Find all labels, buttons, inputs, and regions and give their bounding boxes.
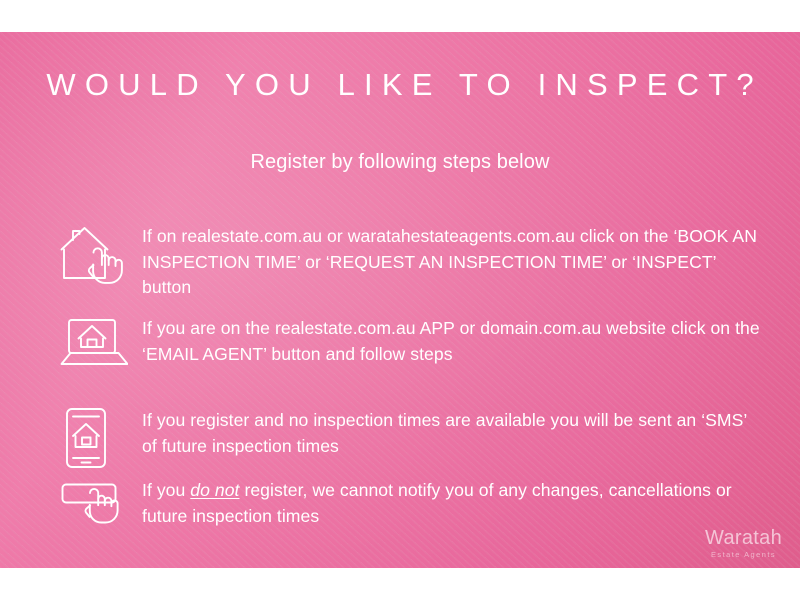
list-item-text: If you do not register, we cannot notify… [142,476,760,529]
logo-tagline: Estate Agents [705,551,782,558]
page-subtitle: Register by following steps below [0,152,800,172]
list-item-text: If you are on the realestate.com.au APP … [142,314,760,367]
poster-canvas: WOULD YOU LIKE TO INSPECT? Register by f… [0,32,800,568]
list-item-text: If on realestate.com.au or waratahestate… [142,222,760,301]
list-item: If you register and no inspection times … [60,406,760,469]
list-item: If you do not register, we cannot notify… [60,476,760,531]
page-title: WOULD YOU LIKE TO INSPECT? [0,69,800,100]
step-text-main: If you register and no inspection times … [142,410,747,456]
smartphone-with-house-icon [60,406,142,469]
laptop-with-house-icon [60,314,142,371]
poster-content: WOULD YOU LIKE TO INSPECT? Register by f… [0,32,800,568]
house-with-pointing-hand-icon [60,222,142,284]
step-text-before: If you [142,480,190,500]
step-text-main: If on realestate.com.au or waratahestate… [142,226,757,297]
list-item: If on realestate.com.au or waratahestate… [60,222,760,301]
button-with-pointing-hand-icon [60,476,142,531]
list-item: If you are on the realestate.com.au APP … [60,314,760,371]
step-text-main: If you are on the realestate.com.au APP … [142,318,760,364]
list-item-text: If you register and no inspection times … [142,406,760,459]
waratah-logo: Waratah Estate Agents [705,528,782,558]
logo-name: Waratah [705,528,782,548]
step-text-emphasis: do not [190,480,239,500]
